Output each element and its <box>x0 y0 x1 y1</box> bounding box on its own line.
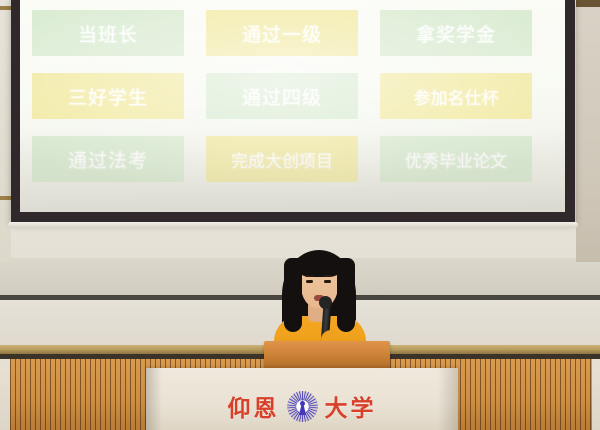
slide-cell-label: 通过一级 <box>242 20 322 47</box>
slide-cell-label: 完成大创项目 <box>231 147 333 172</box>
hair-fringe <box>297 252 342 277</box>
slide-cell-label: 优秀毕业论文 <box>405 147 507 172</box>
projection-screen-surface: 当班长 通过一级 拿奖学金 三好学生 通过四级 参加名仕杯 通过法考 完成大创项… <box>20 0 565 212</box>
eyebrow-left <box>305 275 314 277</box>
slide-cell-1: 当班长 <box>32 10 184 56</box>
right-column-trim <box>576 0 600 7</box>
podium-desktop <box>264 341 390 370</box>
slide-goal-grid: 当班长 通过一级 拿奖学金 三好学生 通过四级 参加名仕杯 通过法考 完成大创项… <box>32 10 552 182</box>
slide-cell-label: 通过法考 <box>68 146 148 173</box>
slide-cell-9: 优秀毕业论文 <box>380 136 532 182</box>
left-column-trim-bottom <box>0 196 11 200</box>
slide-cell-2: 通过一级 <box>206 10 358 56</box>
hair-right <box>337 258 355 332</box>
eye-left <box>306 280 313 283</box>
slide-cell-3: 拿奖学金 <box>380 10 532 56</box>
slide-cell-label: 通过四级 <box>242 83 322 110</box>
slide-cell-6: 参加名仕杯 <box>380 73 532 119</box>
left-column-trim-top <box>0 6 11 10</box>
slide-cell-label: 参加名仕杯 <box>414 84 499 109</box>
eye-right <box>324 280 331 283</box>
projection-screen-frame: 当班长 通过一级 拿奖学金 三好学生 通过四级 参加名仕杯 通过法考 完成大创项… <box>11 0 575 222</box>
slide-cell-label: 当班长 <box>78 20 138 47</box>
slide-cell-7: 通过法考 <box>32 136 184 182</box>
slide-cell-4: 三好学生 <box>32 73 184 119</box>
slide-cell-8: 完成大创项目 <box>206 136 358 182</box>
hair-left <box>284 258 302 332</box>
slide-cell-5: 通过四级 <box>206 73 358 119</box>
microphone-head <box>319 296 332 309</box>
eyebrow-right <box>323 275 332 277</box>
projection-screen-roller <box>8 222 578 228</box>
slide-cell-label: 拿奖学金 <box>416 20 496 47</box>
lecture-hall-photo: 当班长 通过一级 拿奖学金 三好学生 通过四级 参加名仕杯 通过法考 完成大创项… <box>0 0 600 430</box>
right-wall-column <box>576 0 600 262</box>
slide-cell-label: 三好学生 <box>68 83 148 110</box>
